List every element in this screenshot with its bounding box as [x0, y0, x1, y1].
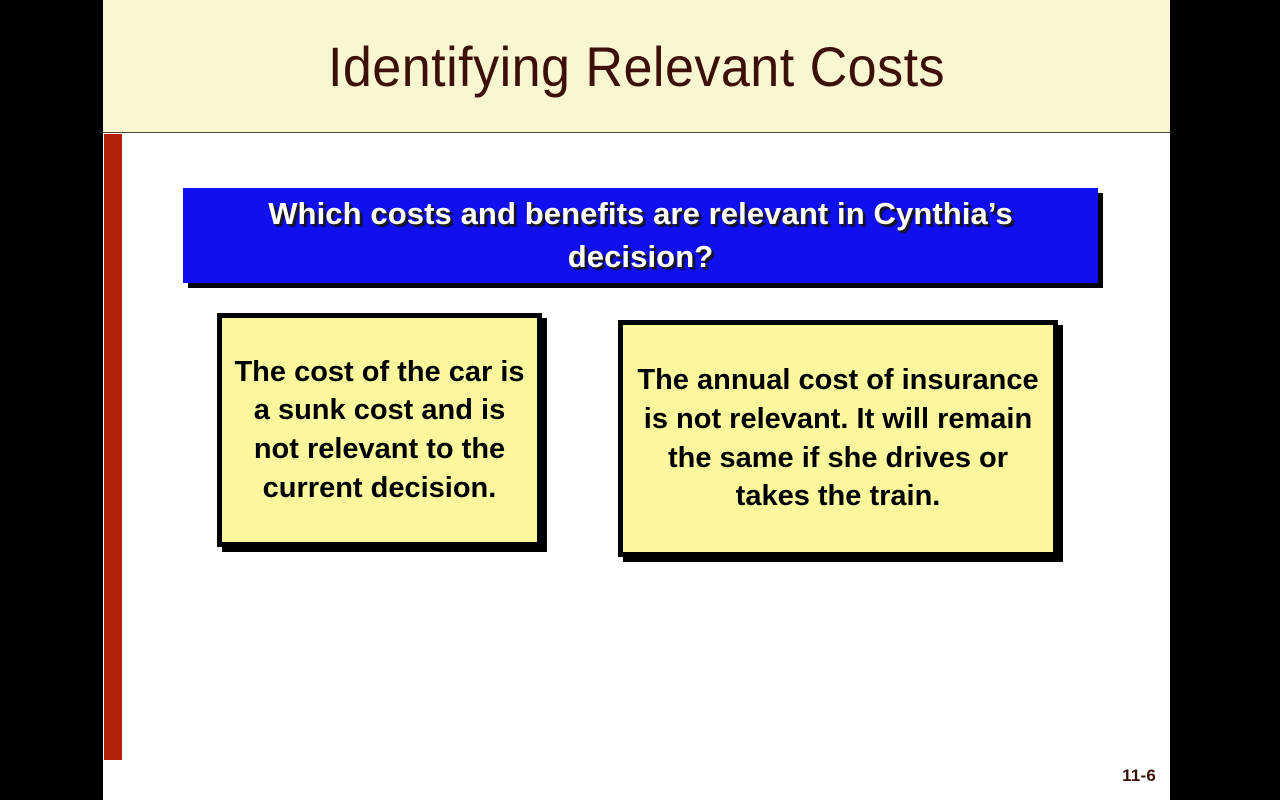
note-box-insurance: The annual cost of insurance is not rele…: [618, 320, 1058, 557]
question-text: Which costs and benefits are relevant in…: [183, 193, 1098, 277]
page-number: 11-6: [1122, 766, 1156, 786]
title-band: Identifying Relevant Costs: [103, 0, 1170, 133]
note-box-insurance-text: The annual cost of insurance is not rele…: [623, 361, 1053, 515]
note-box-sunk-cost-text: The cost of the car is a sunk cost and i…: [222, 353, 537, 507]
question-box-face: Which costs and benefits are relevant in…: [183, 188, 1098, 283]
note-box-insurance-face: The annual cost of insurance is not rele…: [618, 320, 1058, 557]
note-box-sunk-cost: The cost of the car is a sunk cost and i…: [217, 313, 542, 547]
slide-canvas: Identifying Relevant Costs Which costs a…: [103, 0, 1170, 800]
question-callout-box: Which costs and benefits are relevant in…: [183, 188, 1098, 283]
accent-bar: [104, 134, 122, 760]
note-box-sunk-cost-face: The cost of the car is a sunk cost and i…: [217, 313, 542, 547]
page-title: Identifying Relevant Costs: [140, 0, 1132, 133]
slide-viewer: Identifying Relevant Costs Which costs a…: [0, 0, 1280, 800]
